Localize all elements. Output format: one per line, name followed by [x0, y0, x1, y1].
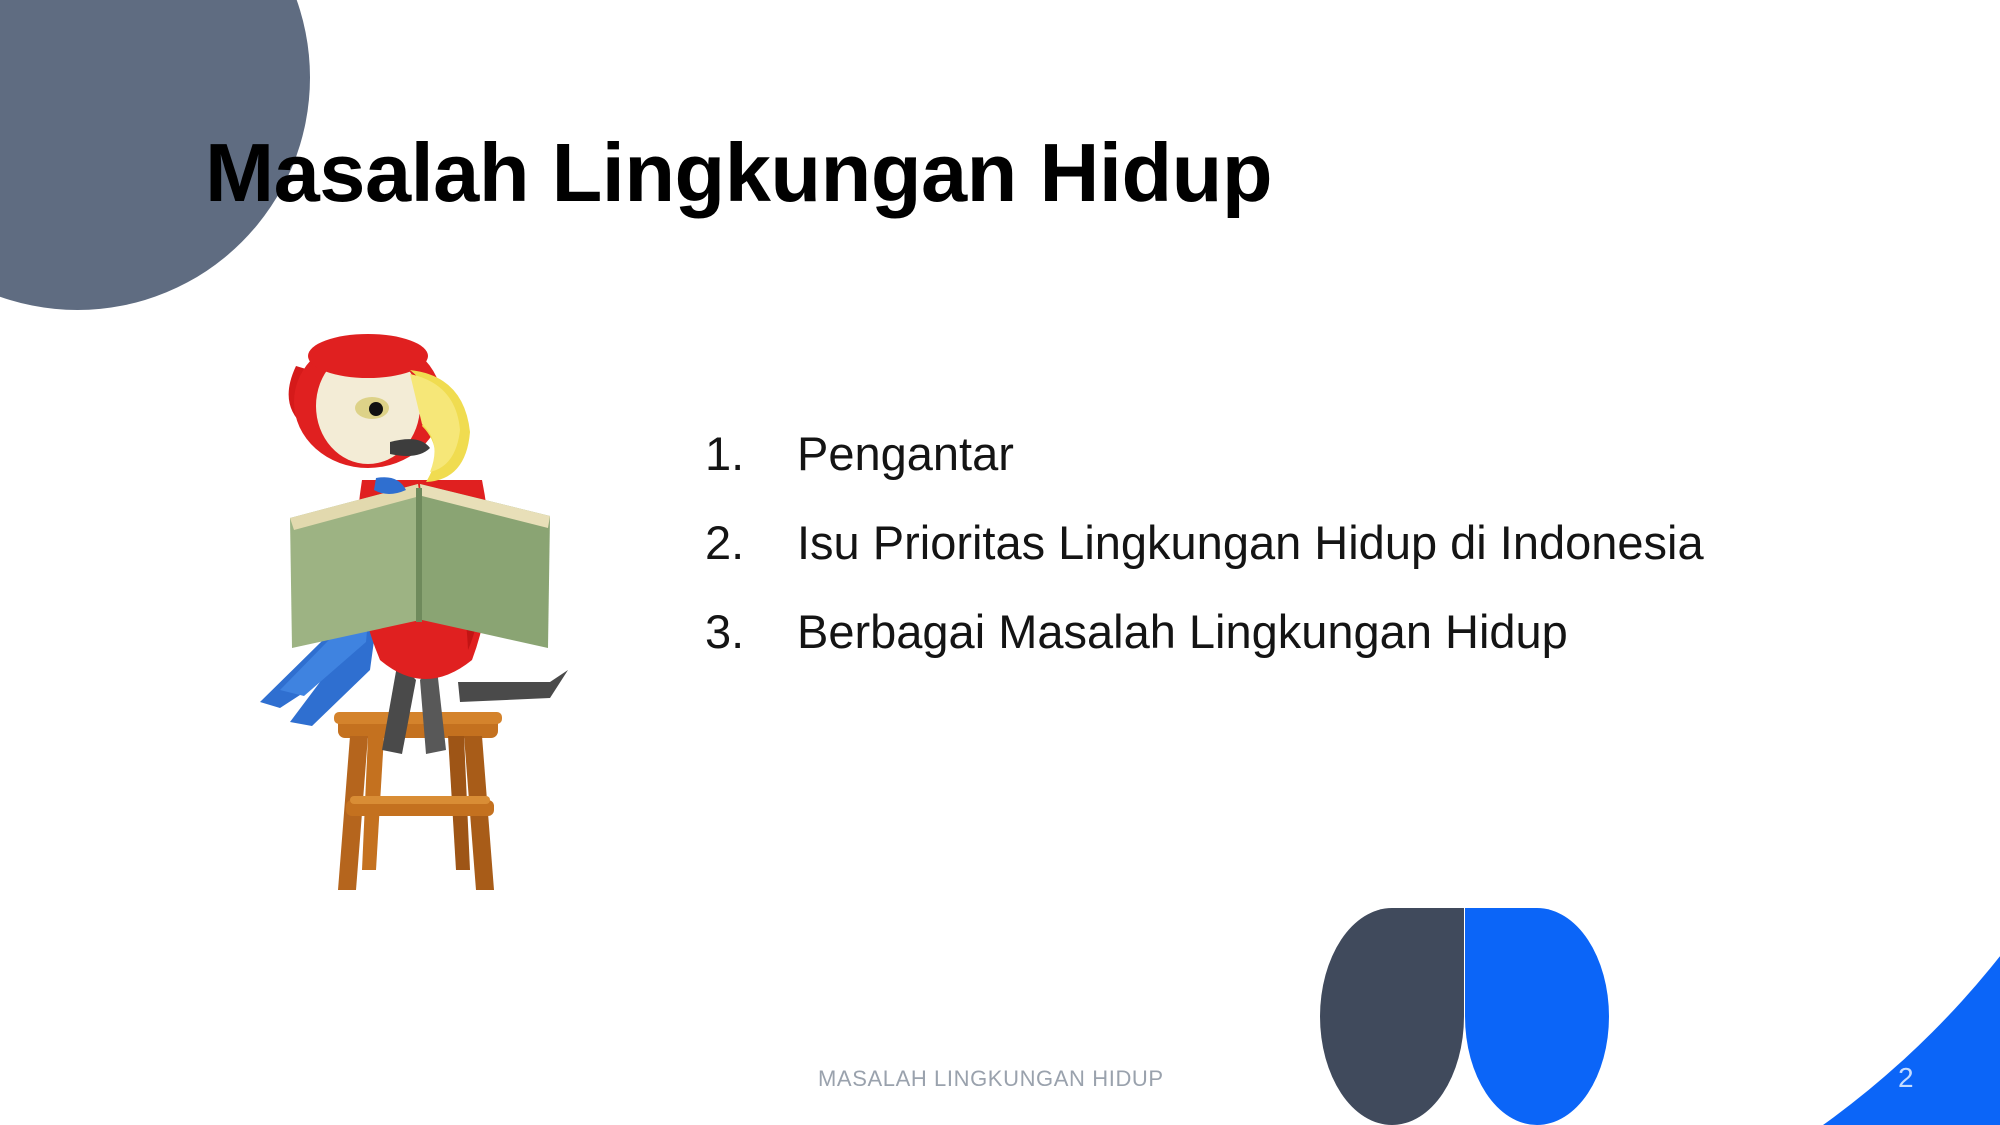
parrot-head	[289, 334, 470, 494]
list-item-number: 3.	[705, 608, 797, 655]
leaf-right-petal-icon	[1465, 908, 1609, 1125]
list-item: 2. Isu Prioritas Lingkungan Hidup di Ind…	[705, 519, 1945, 566]
list-item-number: 2.	[705, 519, 797, 566]
slide-canvas: Masalah Lingkungan Hidup	[0, 0, 2000, 1125]
leaf-left-petal-icon	[1320, 908, 1464, 1125]
footer-label: MASALAH LINGKUNGAN HIDUP	[818, 1066, 1164, 1092]
stool-shape	[334, 712, 502, 890]
agenda-list: 1. Pengantar 2. Isu Prioritas Lingkungan…	[705, 430, 1945, 697]
leaf-logo	[1320, 908, 1610, 1125]
list-item-label: Isu Prioritas Lingkungan Hidup di Indone…	[797, 519, 1945, 566]
list-item-label: Berbagai Masalah Lingkungan Hidup	[797, 608, 1945, 655]
list-item-label: Pengantar	[797, 430, 1945, 477]
parrot-illustration	[250, 330, 610, 945]
list-item-number: 1.	[705, 430, 797, 477]
list-item: 3. Berbagai Masalah Lingkungan Hidup	[705, 608, 1945, 655]
page-number: 2	[1898, 1062, 1914, 1094]
list-item: 1. Pengantar	[705, 430, 1945, 477]
page-title: Masalah Lingkungan Hidup	[205, 125, 1272, 221]
